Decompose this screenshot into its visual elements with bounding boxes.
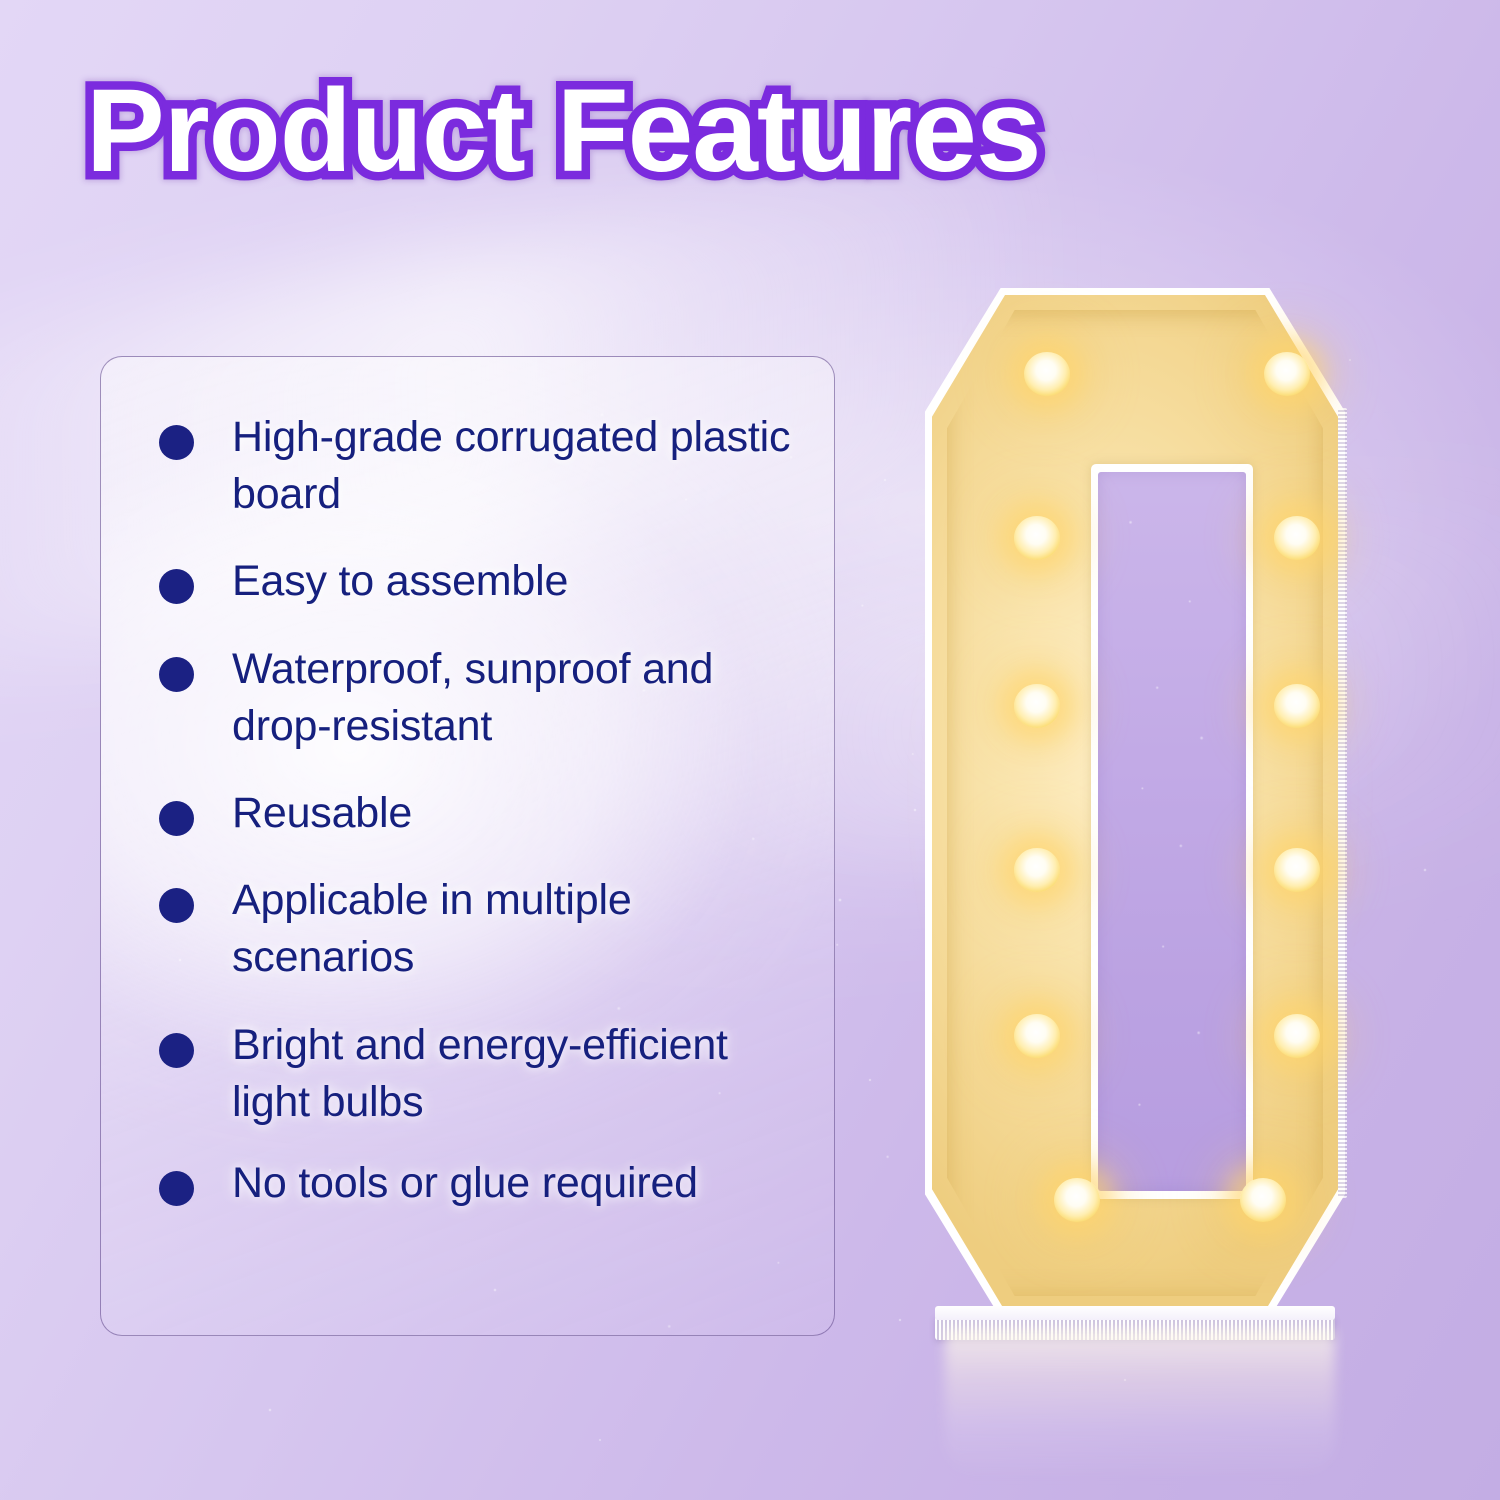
feature-label: Easy to assemble: [232, 553, 568, 610]
list-item: Waterproof, sunproof and drop-resistant: [159, 641, 806, 755]
bullet-icon: [159, 569, 194, 604]
product-marquee-letter: [925, 288, 1345, 1318]
features-list: High-grade corrugated plastic board Easy…: [101, 357, 834, 1335]
led-bulb-icon: [1014, 1014, 1060, 1058]
letter-floor-reflection: [945, 1330, 1335, 1480]
bullet-icon: [159, 1033, 194, 1068]
led-bulb-icon: [1274, 516, 1320, 560]
led-bulb-icon: [1274, 684, 1320, 728]
bullet-icon: [159, 1171, 194, 1206]
features-card: High-grade corrugated plastic board Easy…: [100, 356, 835, 1336]
page-title: Product Features: [86, 72, 1040, 190]
led-bulb-icon: [1274, 848, 1320, 892]
feature-label: High-grade corrugated plastic board: [232, 409, 806, 523]
list-item: Reusable: [159, 785, 806, 842]
led-bulb-icon: [1014, 848, 1060, 892]
bullet-icon: [159, 888, 194, 923]
led-bulb-icon: [1014, 684, 1060, 728]
list-item: Applicable in multiple scenarios: [159, 872, 806, 986]
letter-cutout-window: [1098, 472, 1246, 1191]
led-bulb-icon: [1024, 352, 1070, 396]
feature-label: Reusable: [232, 785, 412, 842]
feature-label: No tools or glue required: [232, 1155, 698, 1212]
led-bulb-icon: [1264, 352, 1310, 396]
corrugated-edge-texture: [1338, 408, 1347, 1198]
bullet-icon: [159, 425, 194, 460]
feature-label: Waterproof, sunproof and drop-resistant: [232, 641, 806, 755]
bullet-icon: [159, 657, 194, 692]
feature-label: Applicable in multiple scenarios: [232, 872, 806, 986]
list-item: Easy to assemble: [159, 553, 806, 610]
led-bulb-icon: [1054, 1178, 1100, 1222]
list-item: No tools or glue required: [159, 1155, 806, 1212]
led-bulb-icon: [1274, 1014, 1320, 1058]
infographic-canvas: Product Features Product Features High-g…: [0, 0, 1500, 1500]
list-item: Bright and energy-efficient light bulbs: [159, 1017, 806, 1131]
led-bulb-icon: [1240, 1178, 1286, 1222]
led-bulb-icon: [1014, 516, 1060, 560]
list-item: High-grade corrugated plastic board: [159, 409, 806, 523]
feature-label: Bright and energy-efficient light bulbs: [232, 1017, 806, 1131]
letter-base-cap: [935, 1306, 1335, 1320]
bullet-icon: [159, 801, 194, 836]
